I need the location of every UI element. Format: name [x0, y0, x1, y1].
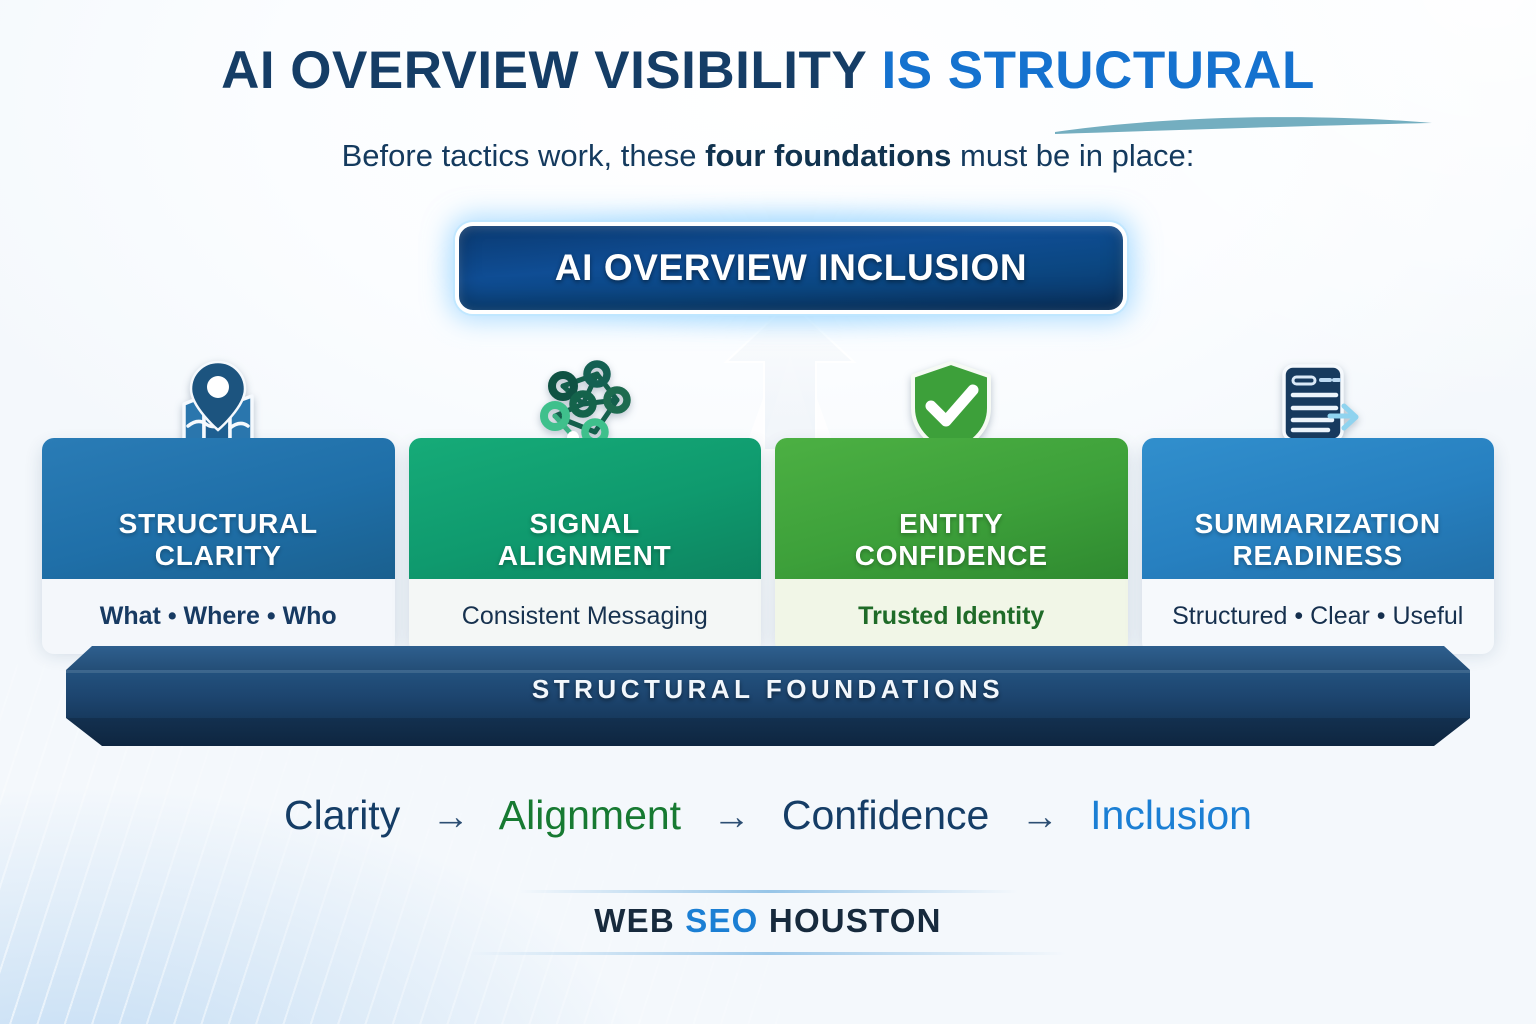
platform-label: STRUCTURAL FOUNDATIONS — [66, 674, 1470, 705]
subtitle-after: must be in place: — [951, 138, 1194, 173]
card-signal-alignment[interactable]: SIGNAL ALIGNMENT Consistent Messaging — [409, 438, 762, 646]
brand-word-houston: HOUSTON — [769, 902, 942, 939]
card-title-summarization-readiness: SUMMARIZATION READINESS — [1195, 508, 1441, 571]
flow-arrow-icon-3: → — [1021, 796, 1059, 838]
card-title-structural-clarity: STRUCTURAL CLARITY — [119, 508, 318, 571]
title-accent: IS STRUCTURAL — [881, 41, 1314, 100]
card-header-structural-clarity: STRUCTURAL CLARITY — [42, 438, 395, 579]
flow-step-confidence: Confidence — [782, 792, 989, 838]
card-header-summarization-readiness: SUMMARIZATION READINESS — [1142, 438, 1495, 579]
card-title-signal-alignment: SIGNAL ALIGNMENT — [498, 508, 672, 571]
card-entity-confidence[interactable]: ENTITY CONFIDENCE Trusted Identity — [775, 438, 1128, 646]
process-flow: Clarity → Alignment → Confidence → Inclu… — [0, 792, 1536, 839]
brand-word-seo: SEO — [685, 902, 758, 939]
card-footer-structural-clarity: What • Where • Who — [42, 579, 395, 654]
flow-step-inclusion: Inclusion — [1090, 792, 1252, 838]
card-footer-signal-alignment: Consistent Messaging — [409, 579, 762, 654]
title-main: AI OVERVIEW VISIBILITY — [221, 41, 866, 100]
flow-arrow-icon-2: → — [712, 796, 750, 838]
card-subtitle-signal-alignment: Consistent Messaging — [462, 602, 708, 631]
card-header-entity-confidence: ENTITY CONFIDENCE — [775, 438, 1128, 579]
card-structural-clarity[interactable]: STRUCTURAL CLARITY What • Where • Who — [42, 438, 395, 646]
card-title-line2: CLARITY — [119, 540, 318, 571]
card-title-line1: SUMMARIZATION — [1195, 508, 1441, 539]
card-title-line2: CONFIDENCE — [855, 540, 1048, 571]
subtitle-before: Before tactics work, these — [342, 138, 706, 173]
flow-step-alignment: Alignment — [499, 792, 681, 838]
card-title-entity-confidence: ENTITY CONFIDENCE — [855, 508, 1048, 571]
card-title-line1: STRUCTURAL — [119, 508, 318, 539]
flow-arrow-icon-1: → — [432, 796, 470, 838]
foundation-cards: STRUCTURAL CLARITY What • Where • Who — [42, 438, 1494, 646]
card-summarization-readiness[interactable]: SUMMARIZATION READINESS Structured • Cle… — [1142, 438, 1495, 646]
page-subtitle: Before tactics work, these four foundati… — [0, 138, 1536, 174]
card-title-line1: SIGNAL — [498, 508, 672, 539]
card-footer-entity-confidence: Trusted Identity — [775, 579, 1128, 654]
structural-foundations-platform: STRUCTURAL FOUNDATIONS — [66, 646, 1470, 751]
badge-label: AI OVERVIEW INCLUSION — [555, 247, 1027, 289]
card-title-line1: ENTITY — [855, 508, 1048, 539]
badge-body: AI OVERVIEW INCLUSION — [455, 222, 1127, 314]
title-swoosh — [0, 112, 1536, 138]
card-title-line2: READINESS — [1195, 540, 1441, 571]
card-title-line2: ALIGNMENT — [498, 540, 672, 571]
card-subtitle-entity-confidence: Trusted Identity — [858, 602, 1044, 631]
card-header-signal-alignment: SIGNAL ALIGNMENT — [409, 438, 762, 579]
page-title: AI OVERVIEW VISIBILITY IS STRUCTURAL — [0, 40, 1536, 101]
ai-overview-inclusion-badge[interactable]: AI OVERVIEW INCLUSION — [455, 222, 1127, 314]
flow-step-clarity: Clarity — [284, 792, 400, 838]
card-subtitle-structural-clarity: What • Where • Who — [100, 602, 337, 631]
card-subtitle-summarization-readiness: Structured • Clear • Useful — [1172, 602, 1463, 631]
footer-divider-top — [518, 890, 1018, 893]
footer-divider-bottom — [470, 952, 1066, 955]
card-footer-summarization-readiness: Structured • Clear • Useful — [1142, 579, 1495, 654]
brand-word-web: WEB — [594, 902, 675, 939]
brand-footer: WEB SEO HOUSTON — [0, 902, 1536, 940]
subtitle-bold: four foundations — [705, 138, 951, 173]
infographic-canvas: AI OVERVIEW VISIBILITY IS STRUCTURAL Bef… — [0, 0, 1536, 1024]
